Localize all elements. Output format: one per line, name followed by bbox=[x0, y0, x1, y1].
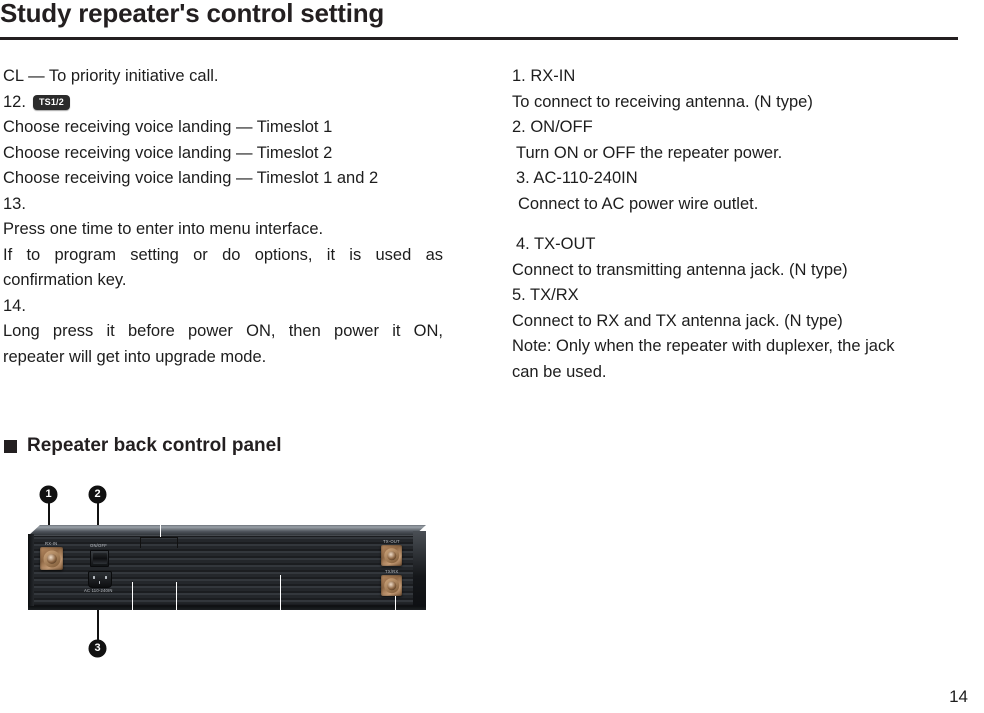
right-item-4-heading: 4. TX-OUT bbox=[512, 232, 972, 258]
silkscreen-tx-out: TX-OUT bbox=[383, 539, 400, 544]
left-line-confirmation-key: confirmation key. bbox=[3, 268, 443, 294]
callout-marker-2: 2 bbox=[89, 486, 106, 503]
callout-marker-3: 3 bbox=[89, 640, 106, 657]
tx-out-connector bbox=[381, 545, 402, 566]
square-bullet-icon bbox=[4, 440, 17, 453]
figure-white-leader-lower-c bbox=[280, 575, 281, 624]
right-item-1-heading: 1. RX-IN bbox=[512, 64, 972, 90]
left-text-column: CL — To priority initiative call. 12. TS… bbox=[3, 64, 443, 370]
ac-power-inlet bbox=[88, 571, 112, 588]
left-line-press-one-time: Press one time to enter into menu interf… bbox=[3, 217, 443, 243]
callout-marker-1: 1 bbox=[40, 486, 57, 503]
left-line-timeslot-1: Choose receiving voice landing — Timeslo… bbox=[3, 115, 443, 141]
right-text-column: 1. RX-IN To connect to receiving antenna… bbox=[512, 64, 972, 385]
left-item-12: 12. TS1/2 bbox=[3, 90, 443, 116]
ts1-2-badge: TS1/2 bbox=[33, 95, 70, 110]
right-note-line-1: Note: Only when the repeater with duplex… bbox=[512, 334, 972, 360]
right-item-2-heading: 2. ON/OFF bbox=[512, 115, 972, 141]
figure-white-leader-top-center bbox=[160, 525, 161, 537]
silkscreen-on-off: ON/OFF bbox=[90, 543, 107, 548]
right-item-3-desc: Connect to AC power wire outlet. bbox=[512, 192, 972, 218]
ac-pin-left bbox=[93, 576, 95, 579]
rocker-switch-face bbox=[93, 553, 107, 564]
right-item-5-desc: Connect to RX and TX antenna jack. (N ty… bbox=[512, 309, 972, 335]
figure-bracket-center-vents bbox=[140, 537, 178, 548]
page-title: Study repeater's control setting bbox=[0, 0, 384, 29]
silkscreen-rx-in: RX-IN bbox=[45, 541, 57, 546]
left-item-12-number: 12. bbox=[3, 90, 26, 116]
section-heading-label: Repeater back control panel bbox=[27, 435, 281, 457]
right-item-4-desc: Connect to transmitting antenna jack. (N… bbox=[512, 258, 972, 284]
left-line-cl: CL — To priority initiative call. bbox=[3, 64, 443, 90]
right-item-2-desc: Turn ON or OFF the repeater power. bbox=[512, 141, 972, 167]
right-item-3-heading: 3. AC-110-240IN bbox=[512, 166, 972, 192]
right-item-5-heading: 5. TX/RX bbox=[512, 283, 972, 309]
silkscreen-ac-in: AC 110-240IN bbox=[84, 588, 113, 593]
silkscreen-tx-rx: TX/RX bbox=[385, 569, 398, 574]
ac-pin-ground bbox=[99, 581, 101, 584]
power-rocker-switch[interactable] bbox=[90, 550, 109, 567]
left-line-timeslot-2: Choose receiving voice landing — Timeslo… bbox=[3, 141, 443, 167]
chassis-right-edge bbox=[413, 531, 426, 607]
left-line-long-press: Long press it before power ON, then powe… bbox=[3, 319, 443, 345]
repeater-chassis-image: RX-IN ON/OFF AC 110-240IN TX-OUT TX/RX bbox=[28, 525, 426, 610]
page-number: 14 bbox=[949, 687, 968, 707]
section-heading-repeater-back-panel: Repeater back control panel bbox=[4, 435, 281, 457]
left-line-upgrade-mode: repeater will get into upgrade mode. bbox=[3, 345, 443, 371]
title-divider bbox=[0, 37, 958, 40]
left-item-14-number: 14. bbox=[3, 294, 443, 320]
figure-white-leader-lower-b bbox=[176, 582, 177, 624]
chassis-bottom-edge bbox=[28, 606, 426, 610]
repeater-back-panel-figure: 1 2 3 RX-IN ON/OFF AC 110-240IN TX-OUT bbox=[20, 480, 440, 670]
figure-white-leader-tx-out bbox=[395, 480, 396, 506]
right-note-line-2: can be used. bbox=[512, 360, 972, 386]
right-item-1-desc: To connect to receiving antenna. (N type… bbox=[512, 90, 972, 116]
figure-white-leader-tx-rx bbox=[395, 596, 396, 626]
rx-in-connector bbox=[40, 547, 63, 570]
ac-pin-right bbox=[105, 576, 107, 579]
figure-white-leader-lower-a bbox=[132, 582, 133, 624]
left-line-timeslot-1-and-2: Choose receiving voice landing — Timeslo… bbox=[3, 166, 443, 192]
chassis-left-edge bbox=[28, 534, 34, 608]
left-line-program-setting: If to program setting or do options, it … bbox=[3, 243, 443, 269]
left-item-13-number: 13. bbox=[3, 192, 443, 218]
tx-rx-connector bbox=[381, 575, 402, 596]
